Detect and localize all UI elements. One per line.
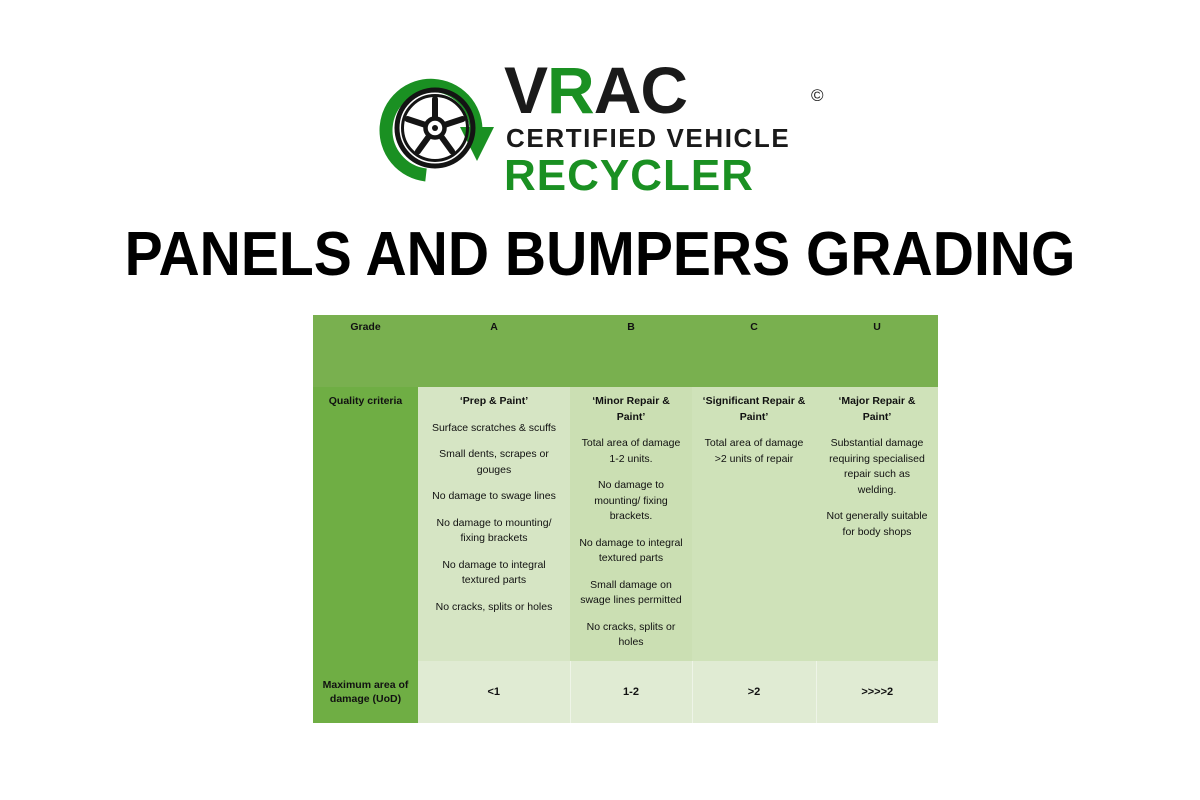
criteria-line-a-3: No damage to swage lines [427,489,561,505]
table-row-quality-criteria: Quality criteria ‘Prep & Paint’ Surface … [313,387,938,661]
wheel-rim-recycle-arrow-icon [378,69,496,187]
criteria-line-b-4: Small damage on swage lines permitted [579,578,683,609]
row-label-quality-criteria: Quality criteria [313,387,418,661]
max-value-b: 1-2 [570,661,692,723]
criteria-line-a-4: No damage to mounting/ fixing brackets [427,516,561,547]
criteria-cell-u: ‘Major Repair & Paint’ Substantial damag… [816,387,938,661]
header-cell-a: A [418,315,570,387]
criteria-line-a-2: Small dents, scrapes or gouges [427,447,561,478]
page-title: PANELS AND BUMPERS GRADING [48,222,1152,288]
table-row-maximum-area: Maximum area of damage (UoD) <1 1-2 >2 >… [313,661,938,723]
criteria-heading-b: ‘Minor Repair & Paint’ [579,394,683,425]
grading-table: Grade A B C U Quality criteria ‘Prep & P… [313,315,938,723]
logo-subline: CERTIFIED VEHICLE [506,123,790,154]
header-cell-b: B [570,315,692,387]
vrac-logo: VRAC© CERTIFIED VEHICLE RECYCLER [378,55,838,200]
logo-wordmark: VRAC© [504,57,687,123]
criteria-line-b-2: No damage to mounting/ fixing brackets. [579,478,683,525]
wordmark-r: R [547,53,594,127]
criteria-line-b-5: No cracks, splits or holes [579,620,683,651]
logo-recycler-word: RECYCLER [504,151,754,201]
criteria-cell-a: ‘Prep & Paint’ Surface scratches & scuff… [418,387,570,661]
criteria-line-b-1: Total area of damage 1-2 units. [579,436,683,467]
criteria-line-a-6: No cracks, splits or holes [427,600,561,616]
criteria-line-c-1: Total area of damage >2 units of repair [701,436,807,467]
criteria-line-a-1: Surface scratches & scuffs [427,421,561,437]
header-cell-c: C [692,315,816,387]
header-cell-u: U [816,315,938,387]
wordmark-ac: AC [594,53,687,127]
max-value-u: >>>>2 [816,661,938,723]
max-value-a: <1 [418,661,570,723]
criteria-cell-b: ‘Minor Repair & Paint’ Total area of dam… [570,387,692,661]
criteria-heading-c: ‘Significant Repair & Paint’ [701,394,807,425]
criteria-cell-c: ‘Significant Repair & Paint’ Total area … [692,387,816,661]
criteria-heading-a: ‘Prep & Paint’ [427,394,561,410]
table-header-row: Grade A B C U [313,315,938,387]
criteria-line-u-1: Substantial damage requiring specialised… [825,436,929,498]
logo-text-group: VRAC© CERTIFIED VEHICLE RECYCLER [504,55,838,200]
header-cell-grade: Grade [313,315,418,387]
criteria-line-u-2: Not generally suitable for body shops [825,509,929,540]
criteria-line-b-3: No damage to integral textured parts [579,536,683,567]
row-label-maximum-area: Maximum area of damage (UoD) [313,661,418,723]
copyright-icon: © [811,63,823,129]
criteria-heading-u: ‘Major Repair & Paint’ [825,394,929,425]
criteria-line-a-5: No damage to integral textured parts [427,558,561,589]
wordmark-v: V [504,53,547,127]
max-value-c: >2 [692,661,816,723]
